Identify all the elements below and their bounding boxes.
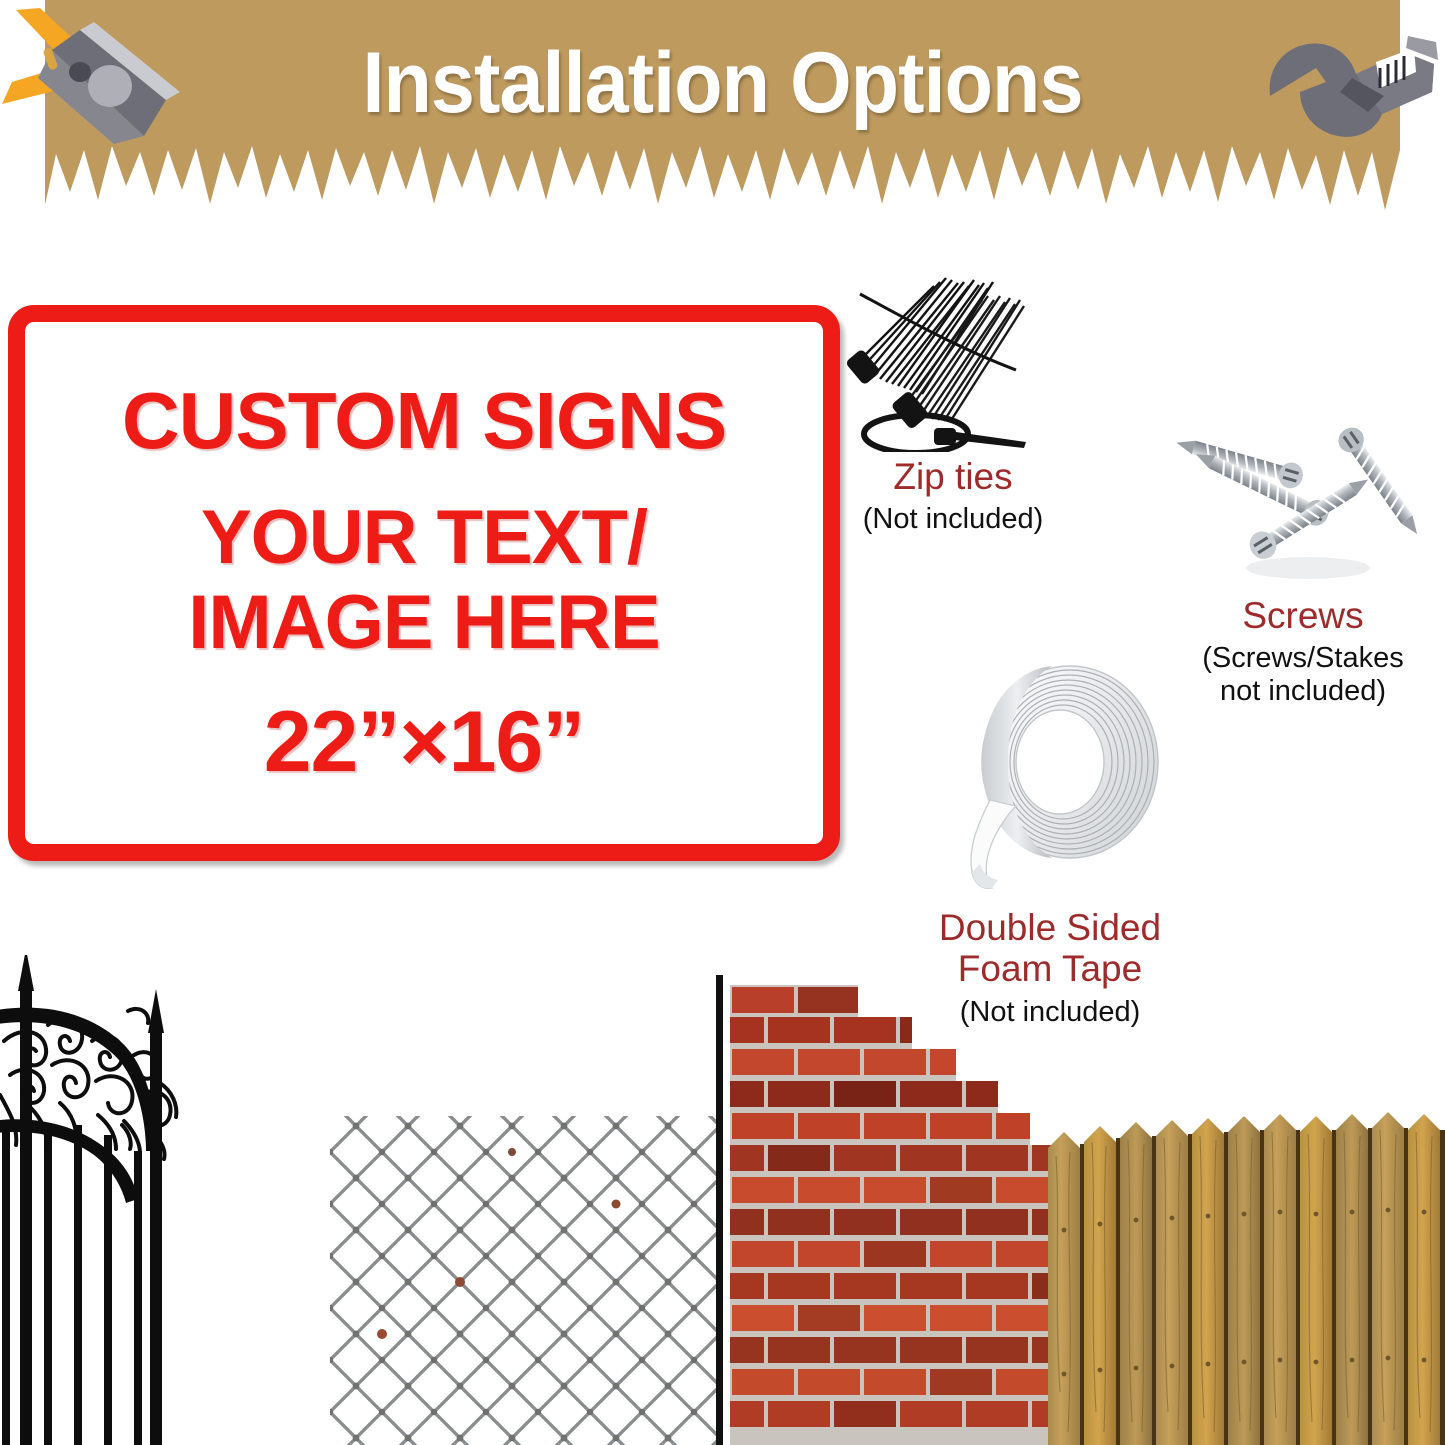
zip-ties-art [838,252,1068,452]
screws-art [1158,418,1445,593]
section-divider [716,975,723,1445]
screws-icon [1158,418,1445,593]
iron-gate-icon [0,955,350,1445]
chain-link-fence-icon [330,1100,720,1445]
sign-headline: CUSTOM SIGNS [122,380,726,462]
custom-sign-preview: CUSTOM SIGNS YOUR TEXT/ IMAGE HERE 22”×1… [8,305,840,861]
zip-ties-icon [838,252,1068,452]
accessory-zip-ties: Zip ties (Not included) [838,252,1068,536]
page-title: Installation Options [58,34,1387,133]
zip-ties-label: Zip ties [838,456,1068,497]
foam-tape-label: Double Sided Foam Tape [900,907,1200,990]
infographic-page: Installation Options CUSTOM SIGNS YOUR T… [0,0,1445,1445]
sign-size-label: 22”×16” [264,693,585,792]
wood-fence-icon [1048,1112,1445,1445]
header-banner: Installation Options [0,0,1445,215]
sign-subline-2: IMAGE HERE [188,580,659,665]
sign-subline-1: YOUR TEXT/ [201,495,647,580]
screws-label: Screws [1158,595,1445,636]
accessory-foam-tape: Double Sided Foam Tape (Not included) [900,650,1200,1029]
foam-tape-art [912,650,1212,905]
zip-ties-note: (Not included) [838,503,1068,536]
foam-tape-icon [912,650,1212,905]
